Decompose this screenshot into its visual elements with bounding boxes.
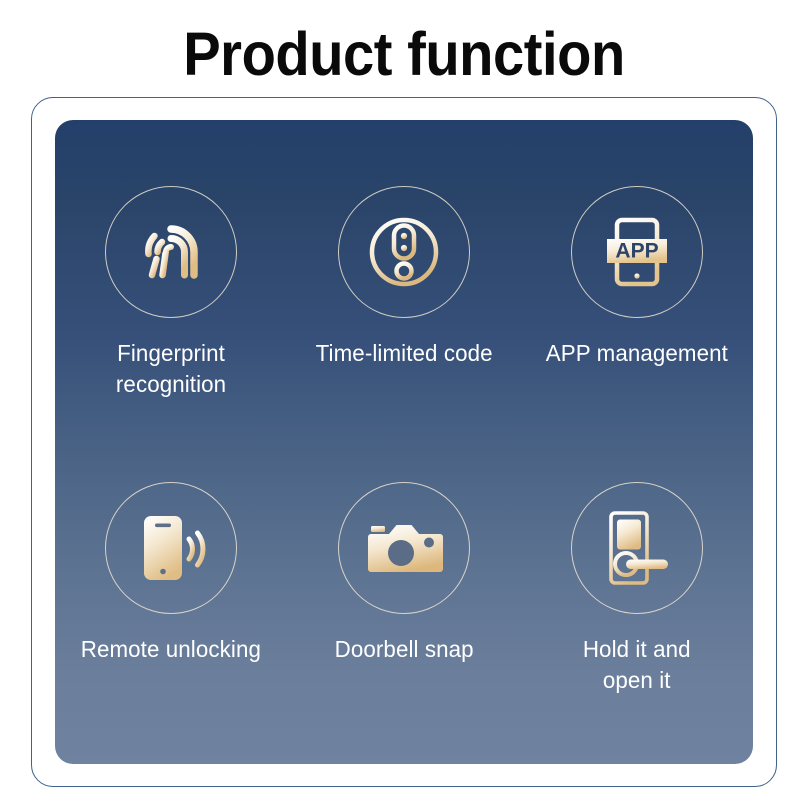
feature-card-doorbell-snap[interactable]: Doorbell snap [288, 442, 521, 665]
passcode-keypad-icon [360, 208, 448, 296]
app-icon-text: APP [615, 240, 658, 263]
feature-card-hold-it-and-open-it[interactable]: Hold it and open it [520, 442, 753, 696]
feature-card-time-limited-code[interactable]: Time-limited code [288, 120, 521, 369]
feature-label: Doorbell snap [334, 634, 473, 665]
product-function-poster: Product function [0, 0, 808, 808]
camera-icon [360, 504, 448, 592]
feature-label: APP management [546, 338, 728, 369]
feature-label: Time-limited code [316, 338, 493, 369]
icon-ring: APP [571, 186, 703, 318]
door-lock-handle-icon [593, 504, 681, 592]
feature-grid: Fingerprint recognition [55, 120, 753, 764]
feature-card-app-management[interactable]: APP APP management [520, 120, 753, 369]
phone-signal-icon [127, 504, 215, 592]
feature-panel: Fingerprint recognition [55, 120, 753, 764]
icon-ring [338, 186, 470, 318]
icon-ring [105, 482, 237, 614]
feature-card-fingerprint-recognition[interactable]: Fingerprint recognition [55, 120, 288, 400]
app-phone-icon: APP [593, 208, 681, 296]
icon-ring [338, 482, 470, 614]
fingerprint-icon [131, 212, 211, 292]
icon-ring [105, 186, 237, 318]
icon-ring [571, 482, 703, 614]
feature-label: Remote unlocking [81, 634, 261, 665]
feature-label: Fingerprint recognition [116, 338, 226, 400]
page-title: Product function [32, 18, 775, 90]
feature-card-remote-unlocking[interactable]: Remote unlocking [55, 442, 288, 665]
feature-label: Hold it and open it [583, 634, 691, 696]
